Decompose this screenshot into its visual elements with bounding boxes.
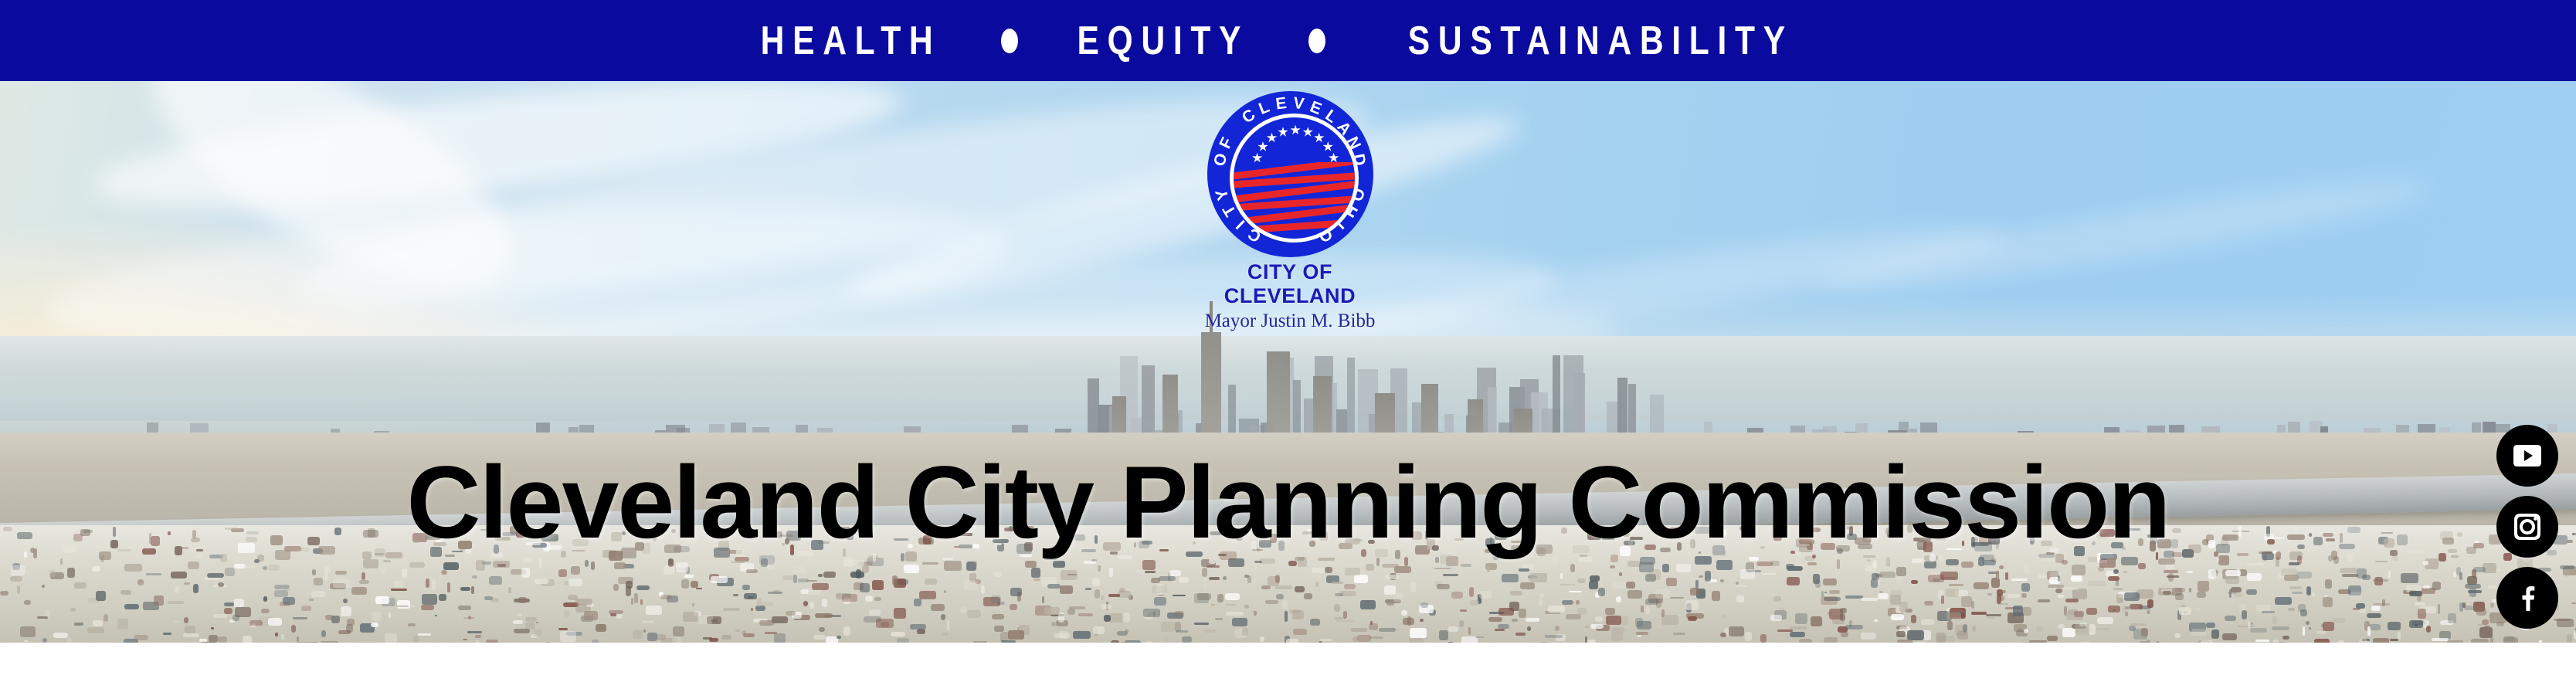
terrain-speck: [518, 597, 527, 602]
terrain-speck: [2333, 618, 2346, 623]
terrain-speck: [2164, 570, 2177, 574]
terrain-speck: [711, 619, 718, 623]
terrain-speck: [1736, 582, 1739, 585]
terrain-speck: [558, 628, 568, 630]
terrain-speck: [1460, 609, 1467, 612]
terrain-speck: [281, 634, 284, 640]
terrain-speck: [925, 579, 938, 584]
terrain-speck: [184, 617, 189, 623]
terrain-speck: [782, 575, 793, 580]
terrain-speck: [389, 612, 391, 618]
terrain-speck: [1560, 584, 1575, 585]
terrain-speck: [1315, 582, 1319, 587]
terrain-speck: [992, 614, 1005, 619]
terrain-speck: [2211, 629, 2219, 639]
terrain-speck: [1595, 616, 1603, 621]
terrain-speck: [735, 629, 740, 633]
terrain-speck: [2282, 636, 2290, 639]
terrain-speck: [2163, 591, 2171, 595]
terrain-speck: [1688, 616, 1697, 621]
terrain-speck: [2312, 592, 2315, 596]
terrain-speck: [1849, 620, 1853, 628]
terrain-speck: [941, 614, 945, 620]
terrain-speck: [947, 620, 950, 630]
terrain-speck: [610, 613, 616, 616]
terrain-speck: [1285, 611, 1288, 622]
terrain-speck: [2250, 628, 2266, 633]
terrain-speck: [2217, 558, 2219, 562]
terrain-speck: [1786, 564, 1794, 568]
terrain-speck: [497, 564, 506, 567]
terrain-speck: [1098, 565, 1101, 572]
terrain-speck: [684, 575, 694, 578]
terrain-speck: [534, 629, 542, 636]
terrain-speck: [1997, 595, 2001, 604]
terrain-speck: [751, 608, 753, 611]
terrain-speck: [60, 558, 63, 565]
terrain-speck: [1204, 579, 1207, 589]
terrain-speck: [2490, 637, 2493, 643]
terrain-speck: [1145, 571, 1156, 572]
terrain-speck: [636, 585, 650, 591]
terrain-speck: [2238, 626, 2255, 627]
terrain-speck: [2418, 609, 2427, 619]
terrain-speck: [232, 615, 239, 621]
terrain-speck: [1539, 593, 1544, 598]
terrain-speck: [773, 590, 780, 594]
terrain-speck: [224, 602, 233, 606]
terrain-speck: [2138, 563, 2146, 570]
terrain-speck: [2038, 599, 2050, 602]
bottom-white-strip: [0, 643, 2576, 682]
terrain-speck: [1760, 634, 1767, 643]
terrain-speck: [1539, 599, 1542, 606]
terrain-speck: [1515, 633, 1526, 636]
terrain-speck: [458, 606, 471, 610]
terrain-speck: [994, 572, 1002, 576]
seal-star-icon: ★: [1290, 124, 1302, 137]
terrain-speck: [301, 606, 311, 612]
terrain-speck: [874, 597, 881, 601]
terrain-speck: [2130, 604, 2142, 609]
terrain-speck: [2325, 579, 2332, 589]
terrain-speck: [46, 609, 50, 618]
terrain-speck: [263, 566, 266, 570]
terrain-speck: [1370, 621, 1373, 625]
terrain-speck: [1282, 600, 1288, 610]
terrain-speck: [1101, 604, 1111, 610]
terrain-speck: [1357, 635, 1371, 643]
terrain-speck: [24, 600, 31, 605]
terrain-speck: [931, 604, 945, 611]
terrain-speck: [441, 570, 447, 574]
terrain-speck: [944, 590, 946, 593]
terrain-speck: [1093, 626, 1105, 634]
terrain-speck: [2367, 613, 2381, 618]
terrain-speck: [1401, 610, 1407, 616]
terrain-speck: [2333, 556, 2339, 564]
terrain-speck: [2005, 572, 2008, 580]
terrain-speck: [1502, 574, 1519, 582]
terrain-speck: [1661, 615, 1678, 625]
terrain-speck: [249, 620, 263, 625]
terrain-speck: [1101, 595, 1105, 599]
terrain-speck: [2415, 602, 2425, 606]
terrain-speck: [575, 599, 592, 605]
terrain-speck: [1108, 594, 1121, 597]
terrain-speck: [1577, 608, 1587, 615]
terrain-speck: [1469, 587, 1475, 598]
terrain-speck: [2398, 568, 2401, 570]
terrain-speck: [1921, 619, 1934, 625]
terrain-speck: [1310, 619, 1320, 626]
terrain-speck: [1420, 619, 1424, 622]
terrain-speck: [1940, 572, 1957, 580]
terrain-speck: [1232, 618, 1248, 626]
instagram-icon[interactable]: [2496, 496, 2558, 558]
terrain-speck: [514, 629, 530, 634]
terrain-speck: [2167, 575, 2179, 578]
terrain-speck: [1403, 618, 1414, 625]
terrain-speck: [2473, 567, 2486, 572]
terrain-speck: [422, 594, 437, 605]
terrain-speck: [1344, 584, 1356, 589]
terrain-speck: [1770, 615, 1782, 621]
terrain-speck: [2174, 633, 2181, 637]
terrain-speck: [447, 582, 450, 592]
terrain-speck: [1837, 559, 1840, 569]
terrain-speck: [2448, 613, 2456, 623]
terrain-speck: [2484, 626, 2490, 629]
terrain-speck: [213, 614, 227, 618]
terrain-speck: [1545, 635, 1563, 638]
terrain-speck: [1025, 561, 1037, 567]
terrain-speck: [1971, 612, 1987, 615]
terrain-speck: [2459, 602, 2463, 612]
terrain-speck: [17, 585, 19, 594]
terrain-speck: [1443, 574, 1458, 576]
terrain-speck: [2571, 602, 2576, 604]
terrain-speck: [748, 596, 753, 599]
terrain-speck: [1611, 633, 1623, 641]
terrain-speck: [2323, 597, 2333, 607]
terrain-speck: [1946, 589, 1959, 597]
terrain-speck: [408, 623, 416, 626]
terrain-speck: [53, 633, 68, 639]
terrain-speck: [175, 586, 180, 593]
terrain-speck: [1254, 561, 1262, 563]
seal-inner-disc: ★★★★★★★★★: [1230, 114, 1359, 243]
terrain-speck: [919, 591, 936, 599]
terrain-speck: [1815, 579, 1821, 588]
terrain-speck: [134, 635, 149, 640]
terrain-speck: [2058, 575, 2061, 582]
terrain-speck: [1685, 600, 1699, 611]
terrain-speck: [325, 615, 334, 620]
terrain-speck: [2292, 592, 2303, 593]
terrain-speck: [393, 581, 403, 587]
terrain-speck: [822, 599, 828, 607]
terrain-speck: [571, 566, 580, 575]
terrain-speck: [1626, 582, 1635, 589]
terrain-speck: [0, 591, 8, 595]
terrain-speck: [1067, 609, 1075, 615]
terrain-speck: [535, 579, 548, 584]
terrain-speck: [1949, 584, 1963, 586]
terrain-speck: [2432, 638, 2449, 641]
terrain-speck: [1590, 624, 1604, 629]
terrain-speck: [1223, 576, 1226, 580]
terrain-speck: [2564, 569, 2571, 578]
terrain-speck: [2306, 586, 2311, 595]
terrain-speck: [616, 614, 623, 619]
terrain-speck: [2459, 572, 2462, 580]
terrain-speck: [363, 559, 378, 568]
terrain-speck: [2072, 589, 2088, 599]
terrain-speck: [2306, 621, 2310, 625]
terrain-speck: [410, 606, 415, 608]
terrain-speck: [2506, 637, 2517, 643]
terrain-speck: [92, 566, 100, 571]
terrain-speck: [1840, 608, 1846, 613]
terrain-speck: [1645, 599, 1658, 605]
terrain-speck: [2369, 624, 2381, 630]
terrain-speck: [2116, 580, 2119, 585]
terrain-speck: [1260, 636, 1264, 642]
terrain-speck: [1756, 562, 1773, 566]
terrain-speck: [1947, 621, 1953, 630]
terrain-speck: [1911, 615, 1917, 623]
terrain-speck: [692, 603, 694, 606]
terrain-speck: [2367, 626, 2371, 636]
terrain-speck: [1265, 600, 1279, 604]
city-name-label: CITY OF CLEVELAND: [1190, 260, 1390, 308]
terrain-speck: [2255, 640, 2269, 642]
terrain-speck: [2196, 608, 2201, 612]
seal-ring-letter: E: [1274, 94, 1288, 114]
terrain-speck: [1386, 602, 1394, 605]
terrain-speck: [1729, 626, 1744, 636]
terrain-speck: [1662, 564, 1668, 572]
social-links: [2494, 425, 2561, 629]
terrain-speck: [2147, 610, 2150, 614]
terrain-speck: [2024, 565, 2029, 573]
terrain-speck: [124, 604, 140, 609]
terrain-speck: [1795, 613, 1807, 624]
terrain-speck: [1439, 630, 1448, 640]
terrain-speck: [2021, 593, 2027, 598]
terrain-speck: [1736, 585, 1746, 587]
terrain-speck: [518, 613, 522, 617]
terrain-speck: [297, 636, 299, 642]
terrain-speck: [2373, 603, 2390, 606]
terrain-speck: [2011, 579, 2028, 581]
terrain-speck: [521, 568, 530, 577]
terrain-speck: [11, 565, 25, 575]
terrain-speck: [2297, 555, 2302, 565]
terrain-speck: [942, 633, 949, 636]
terrain-speck: [1878, 593, 1889, 599]
terrain-speck: [1566, 614, 1581, 619]
terrain-speck: [2113, 569, 2119, 574]
terrain-speck: [10, 576, 22, 581]
terrain-speck: [626, 581, 633, 589]
terrain-speck: [409, 562, 425, 568]
terrain-speck: [1379, 628, 1395, 632]
terrain-speck: [1334, 604, 1340, 612]
terrain-speck: [1899, 602, 1909, 612]
terrain-speck: [1740, 569, 1755, 579]
terrain-speck: [1382, 564, 1399, 568]
terrain-speck: [922, 562, 939, 565]
terrain-speck: [49, 570, 56, 577]
terrain-speck: [2401, 573, 2418, 583]
terrain-speck: [1008, 630, 1025, 639]
terrain-speck: [1054, 633, 1071, 638]
tagline-dot-icon: [1308, 29, 1325, 53]
facebook-icon[interactable]: [2496, 567, 2558, 629]
terrain-speck: [1589, 581, 1597, 589]
terrain-speck: [1092, 578, 1101, 586]
terrain-speck: [1712, 591, 1720, 600]
terrain-speck: [1519, 568, 1529, 572]
terrain-speck: [1069, 606, 1085, 609]
terrain-speck: [439, 594, 446, 601]
seal-ring-letter: L: [1256, 98, 1272, 119]
terrain-speck: [2125, 606, 2130, 609]
terrain-speck: [372, 612, 382, 621]
terrain-speck: [742, 585, 750, 590]
terrain-speck: [2242, 610, 2247, 619]
terrain-speck: [2231, 587, 2242, 593]
terrain-speck: [1320, 639, 1332, 641]
terrain-speck: [960, 606, 966, 613]
terrain-speck: [1627, 590, 1642, 599]
terrain-speck: [1529, 573, 1546, 582]
terrain-speck: [2426, 626, 2431, 632]
seal-star-icon: ★: [1277, 126, 1288, 139]
terrain-speck: [862, 565, 869, 574]
terrain-speck: [1410, 582, 1416, 593]
terrain-speck: [633, 630, 643, 639]
seal-flag-icon: [1230, 162, 1359, 239]
terrain-speck: [1890, 590, 1902, 597]
terrain-speck: [731, 562, 745, 563]
terrain-speck: [1606, 616, 1621, 625]
terrain-speck: [2065, 599, 2079, 602]
terrain-speck: [1585, 636, 1587, 643]
terrain-speck: [1169, 570, 1181, 576]
terrain-speck: [1907, 630, 1925, 640]
terrain-speck: [994, 626, 1004, 632]
terrain-speck: [432, 579, 436, 590]
terrain-speck: [2303, 626, 2305, 636]
seal-stars-arc: ★★★★★★★★★: [1234, 122, 1355, 168]
terrain-speck: [184, 582, 190, 585]
terrain-speck: [309, 599, 314, 601]
terrain-speck: [361, 572, 365, 580]
terrain-speck: [168, 601, 185, 604]
terrain-speck: [1393, 592, 1403, 602]
terrain-speck: [1226, 612, 1244, 616]
terrain-speck: [1095, 589, 1100, 599]
terrain-speck: [421, 605, 433, 611]
terrain-speck: [1666, 578, 1677, 586]
terrain-speck: [74, 623, 84, 626]
terrain-speck: [293, 617, 307, 619]
terrain-speck: [1165, 636, 1167, 643]
terrain-speck: [2225, 616, 2236, 622]
terrain-speck: [525, 617, 537, 622]
terrain-speck: [2222, 633, 2237, 640]
terrain-speck: [1275, 575, 1280, 583]
terrain-speck: [2021, 583, 2030, 592]
terrain-speck: [1010, 588, 1022, 596]
terrain-speck: [1060, 585, 1073, 593]
terrain-speck: [1861, 633, 1877, 640]
terrain-speck: [2189, 588, 2191, 592]
terrain-speck: [2342, 574, 2358, 577]
terrain-speck: [2055, 589, 2063, 593]
terrain-speck: [1244, 605, 1249, 609]
terrain-speck: [1723, 615, 1726, 619]
terrain-speck: [997, 602, 1006, 605]
terrain-speck: [146, 573, 161, 575]
terrain-speck: [803, 601, 809, 606]
terrain-speck: [1207, 565, 1220, 568]
terrain-speck: [1254, 611, 1257, 616]
terrain-speck: [2175, 588, 2185, 592]
terrain-speck: [1896, 577, 1903, 582]
terrain-speck: [872, 580, 884, 590]
terrain-speck: [1829, 590, 1840, 594]
terrain-speck: [67, 637, 73, 643]
terrain-speck: [1560, 573, 1563, 579]
terrain-speck: [2036, 626, 2041, 631]
terrain-speck: [2097, 617, 2113, 624]
terrain-speck: [1288, 561, 1297, 565]
terrain-speck: [2289, 586, 2302, 589]
terrain-speck: [1352, 636, 1359, 642]
terrain-speck: [1085, 588, 1091, 590]
terrain-speck: [472, 575, 477, 579]
terrain-speck: [2476, 608, 2486, 616]
terrain-speck: [2074, 611, 2084, 617]
terrain-speck: [413, 636, 418, 643]
terrain-speck: [815, 613, 833, 618]
terrain-speck: [660, 595, 672, 599]
terrain-speck: [800, 589, 808, 594]
terrain-speck: [2123, 571, 2128, 573]
terrain-speck: [513, 620, 523, 624]
terrain-speck: [2113, 588, 2122, 589]
tagline-banner: HEALTH EQUITY SUSTAINABILITY: [0, 0, 2576, 81]
terrain-speck: [894, 608, 906, 619]
youtube-icon[interactable]: [2496, 425, 2558, 487]
terrain-speck: [640, 599, 643, 605]
seal-ring-letter: Y: [1212, 187, 1233, 202]
terrain-speck: [383, 560, 391, 562]
terrain-speck: [964, 580, 977, 590]
terrain-speck: [463, 639, 467, 640]
terrain-speck: [67, 568, 75, 578]
terrain-speck: [2225, 570, 2241, 576]
terrain-speck: [2206, 623, 2215, 628]
terrain-speck: [1590, 575, 1600, 582]
terrain-speck: [2191, 629, 2207, 636]
terrain-speck: [646, 606, 662, 615]
seal-ring-letter: V: [1291, 94, 1305, 114]
